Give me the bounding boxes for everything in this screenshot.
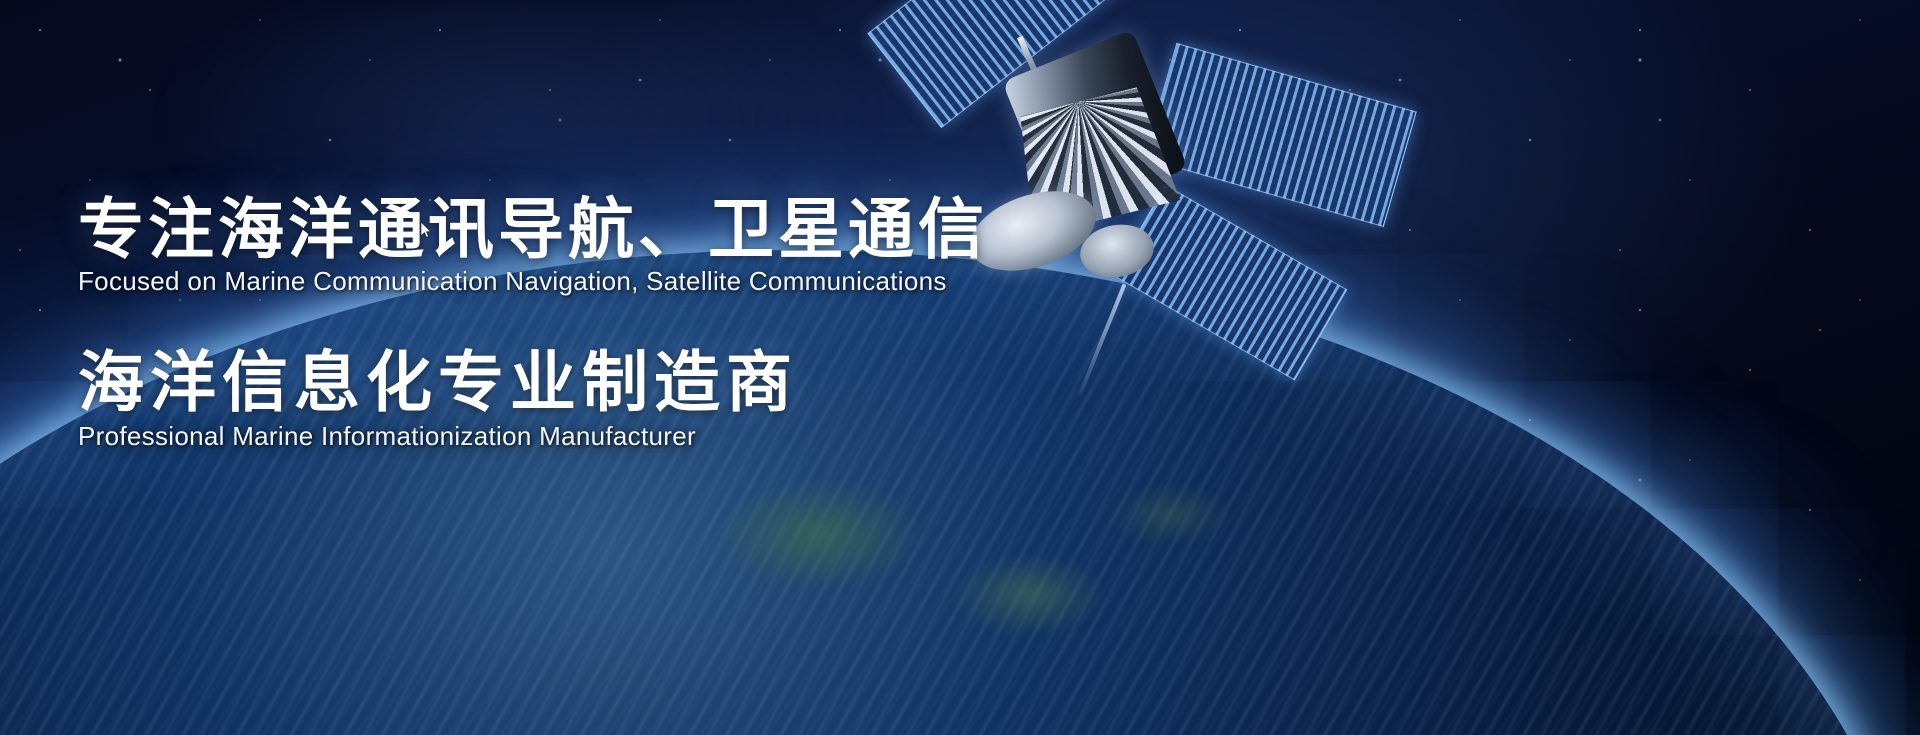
headline-block-1: 专注海洋通讯导航、卫星通信 Focused on Marine Communic… [78, 196, 1078, 297]
headline-cn-1: 专注海洋通讯导航、卫星通信 [78, 196, 1078, 262]
banner-copy: 专注海洋通讯导航、卫星通信 Focused on Marine Communic… [78, 196, 1078, 452]
mouse-pointer-icon [421, 222, 431, 238]
headline-block-2: 海洋信息化专业制造商 Professional Marine Informati… [78, 349, 1078, 452]
instrument-boom [1078, 284, 1127, 397]
subheadline-en-2: Professional Marine Informationization M… [78, 421, 1078, 452]
hero-banner: 专注海洋通讯导航、卫星通信 Focused on Marine Communic… [0, 0, 1920, 735]
subheadline-en-1: Focused on Marine Communication Navigati… [78, 266, 1078, 297]
headline-cn-2: 海洋信息化专业制造商 [78, 349, 1078, 415]
landmass [700, 445, 1340, 735]
solar-panel-lower-right [1113, 185, 1347, 381]
